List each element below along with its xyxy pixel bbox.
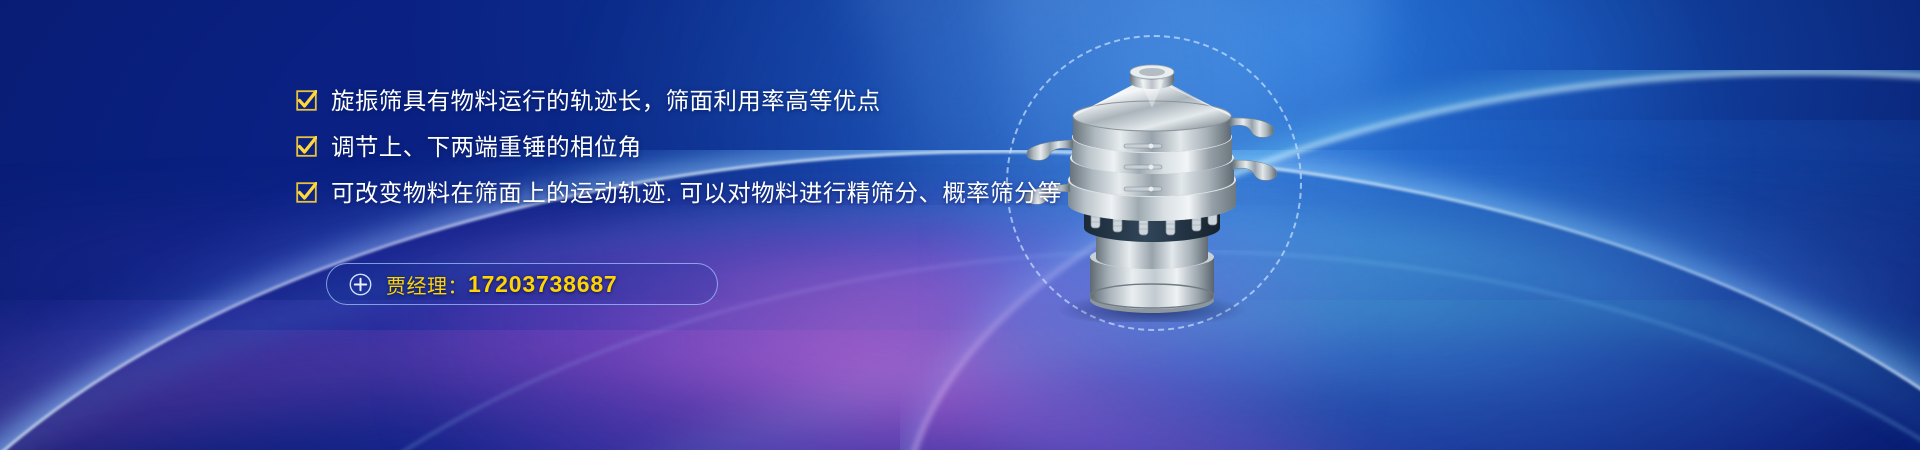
contact-phone-button[interactable]: 贾经理： 17203738687: [326, 263, 718, 305]
list-item: 旋振筛具有物料运行的轨迹长，筛面利用率高等优点: [296, 86, 1016, 116]
feature-list: 旋振筛具有物料运行的轨迹长，筛面利用率高等优点 调节上、下两端重锤的相位角 可改…: [296, 86, 1016, 224]
check-box-icon: [296, 136, 317, 157]
list-item-label: 可改变物料在筛面上的运动轨迹. 可以对物料进行精筛分、概率筛分等: [331, 178, 1062, 208]
check-box-icon: [296, 182, 317, 203]
promo-banner: 旋振筛具有物料运行的轨迹长，筛面利用率高等优点 调节上、下两端重锤的相位角 可改…: [0, 0, 1920, 450]
list-item: 可改变物料在筛面上的运动轨迹. 可以对物料进行精筛分、概率筛分等: [296, 178, 1016, 208]
list-item-label: 调节上、下两端重锤的相位角: [331, 132, 642, 162]
contact-label: 贾经理：: [386, 270, 468, 299]
list-item: 调节上、下两端重锤的相位角: [296, 132, 1016, 162]
list-item-label: 旋振筛具有物料运行的轨迹长，筛面利用率高等优点: [331, 86, 881, 116]
plus-circle-icon: [349, 273, 372, 296]
contact-number: 17203738687: [468, 271, 618, 298]
check-box-icon: [296, 90, 317, 111]
